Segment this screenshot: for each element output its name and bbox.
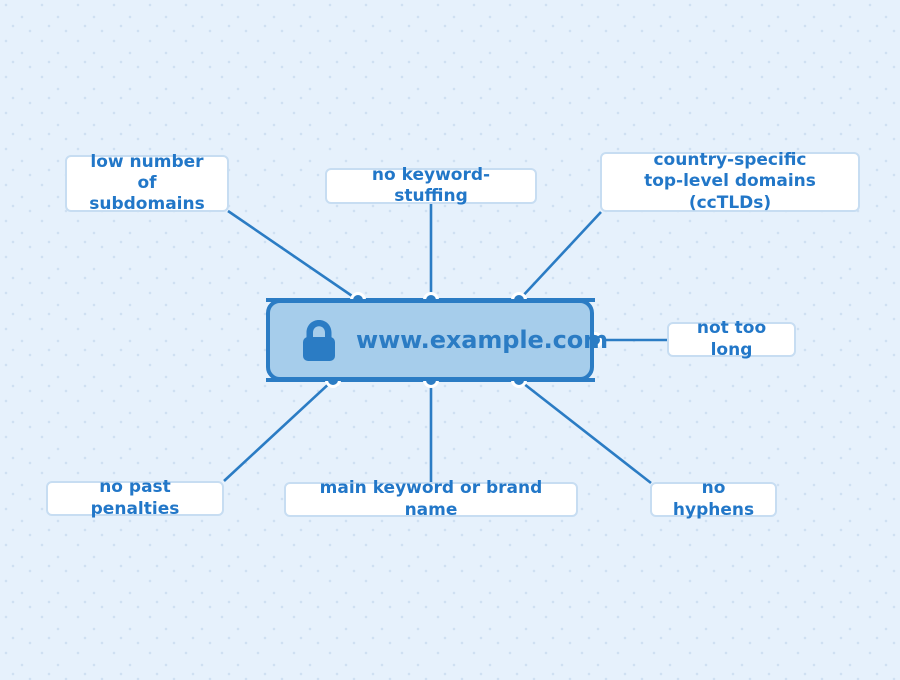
padlock-icon — [298, 318, 340, 362]
leaf-line-1: country-specific — [614, 150, 846, 171]
leaf-not-too-long[interactable]: not too long — [667, 322, 796, 357]
leaf-line-1: low number of — [79, 152, 215, 195]
central-node-domain[interactable]: www.example.com — [266, 299, 594, 381]
leaf-country-specific-cctlds[interactable]: country-specific top-level domains (ccTL… — [600, 152, 860, 212]
connector-line-no-penalties — [224, 380, 333, 481]
leaf-line-2: subdomains — [79, 194, 215, 215]
leaf-low-number-of-subdomains[interactable]: low number of subdomains — [65, 155, 229, 212]
leaf-line-1: no hyphens — [664, 478, 763, 521]
leaf-line-1: main keyword or brand name — [298, 478, 564, 521]
leaf-no-hyphens[interactable]: no hyphens — [650, 482, 777, 517]
leaf-no-keyword-stuffing[interactable]: no keyword-stuffing — [325, 168, 537, 204]
leaf-line-1: no keyword-stuffing — [339, 165, 523, 208]
leaf-no-past-penalties[interactable]: no past penalties — [46, 481, 224, 516]
diagram-canvas: www.example.com low number of subdomains… — [0, 0, 900, 680]
leaf-main-keyword-or-brand-name[interactable]: main keyword or brand name — [284, 482, 578, 517]
connector-line-cctld — [519, 212, 601, 300]
leaf-line-1: no past penalties — [60, 477, 210, 520]
connector-line-no-hyphens — [519, 380, 651, 483]
connector-line-subdomains — [228, 211, 358, 300]
leaf-line-1: not too long — [681, 318, 782, 361]
central-node-label: www.example.com — [356, 326, 608, 354]
leaf-line-2: top-level domains (ccTLDs) — [614, 171, 846, 214]
